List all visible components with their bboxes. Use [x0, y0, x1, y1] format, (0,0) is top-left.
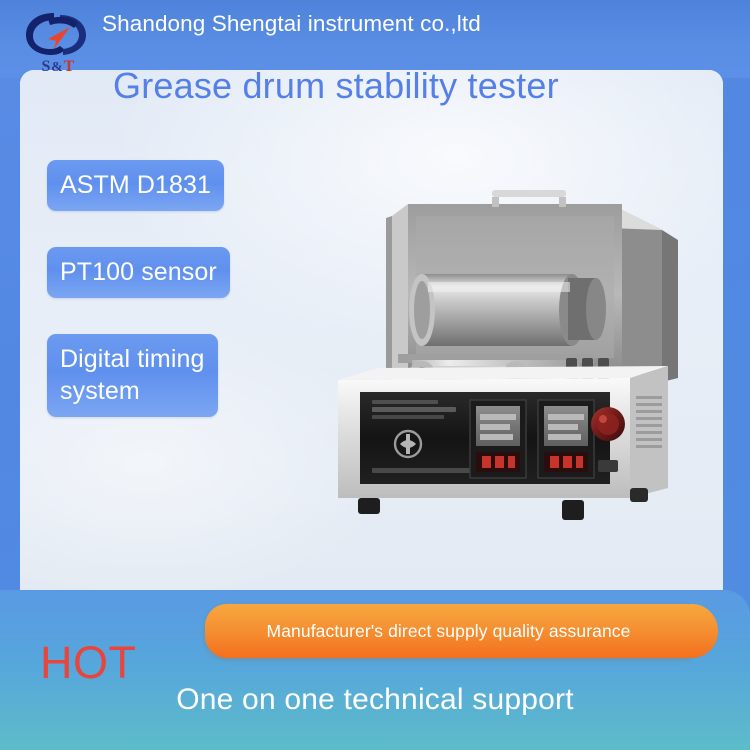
timer-display [538, 400, 594, 478]
grease-drum-stability-tester-illustration [330, 182, 702, 530]
feature-badge-timing: Digital timing system [47, 334, 218, 417]
logo-wordmark-t: T [64, 58, 75, 75]
page-title: Grease drum stability tester [113, 64, 559, 108]
logo-wordmark-s: S [42, 58, 51, 75]
feature-badge-astm: ASTM D1831 [47, 160, 224, 211]
company-logo: S & T [18, 3, 96, 75]
feature-badge-list: ASTM D1831 PT100 sensor Digital timing s… [47, 160, 277, 417]
logo-wordmark-amp: & [51, 60, 63, 75]
control-panel [360, 392, 625, 484]
product-image [330, 182, 702, 530]
support-text: One on one technical support [0, 680, 750, 720]
swoosh-arrow-logo-icon: S & T [18, 3, 96, 75]
roller-drum [409, 274, 606, 346]
product-poster: S & T Shandong Shengtai instrument co.,l… [0, 0, 750, 750]
promo-banner-text: Manufacturer's direct supply quality ass… [267, 621, 631, 642]
company-name: Shandong Shengtai instrument co.,ltd [102, 9, 481, 38]
feature-badge-sensor: PT100 sensor [47, 247, 230, 298]
temperature-display [470, 400, 526, 478]
promo-banner: Manufacturer's direct supply quality ass… [205, 604, 692, 658]
